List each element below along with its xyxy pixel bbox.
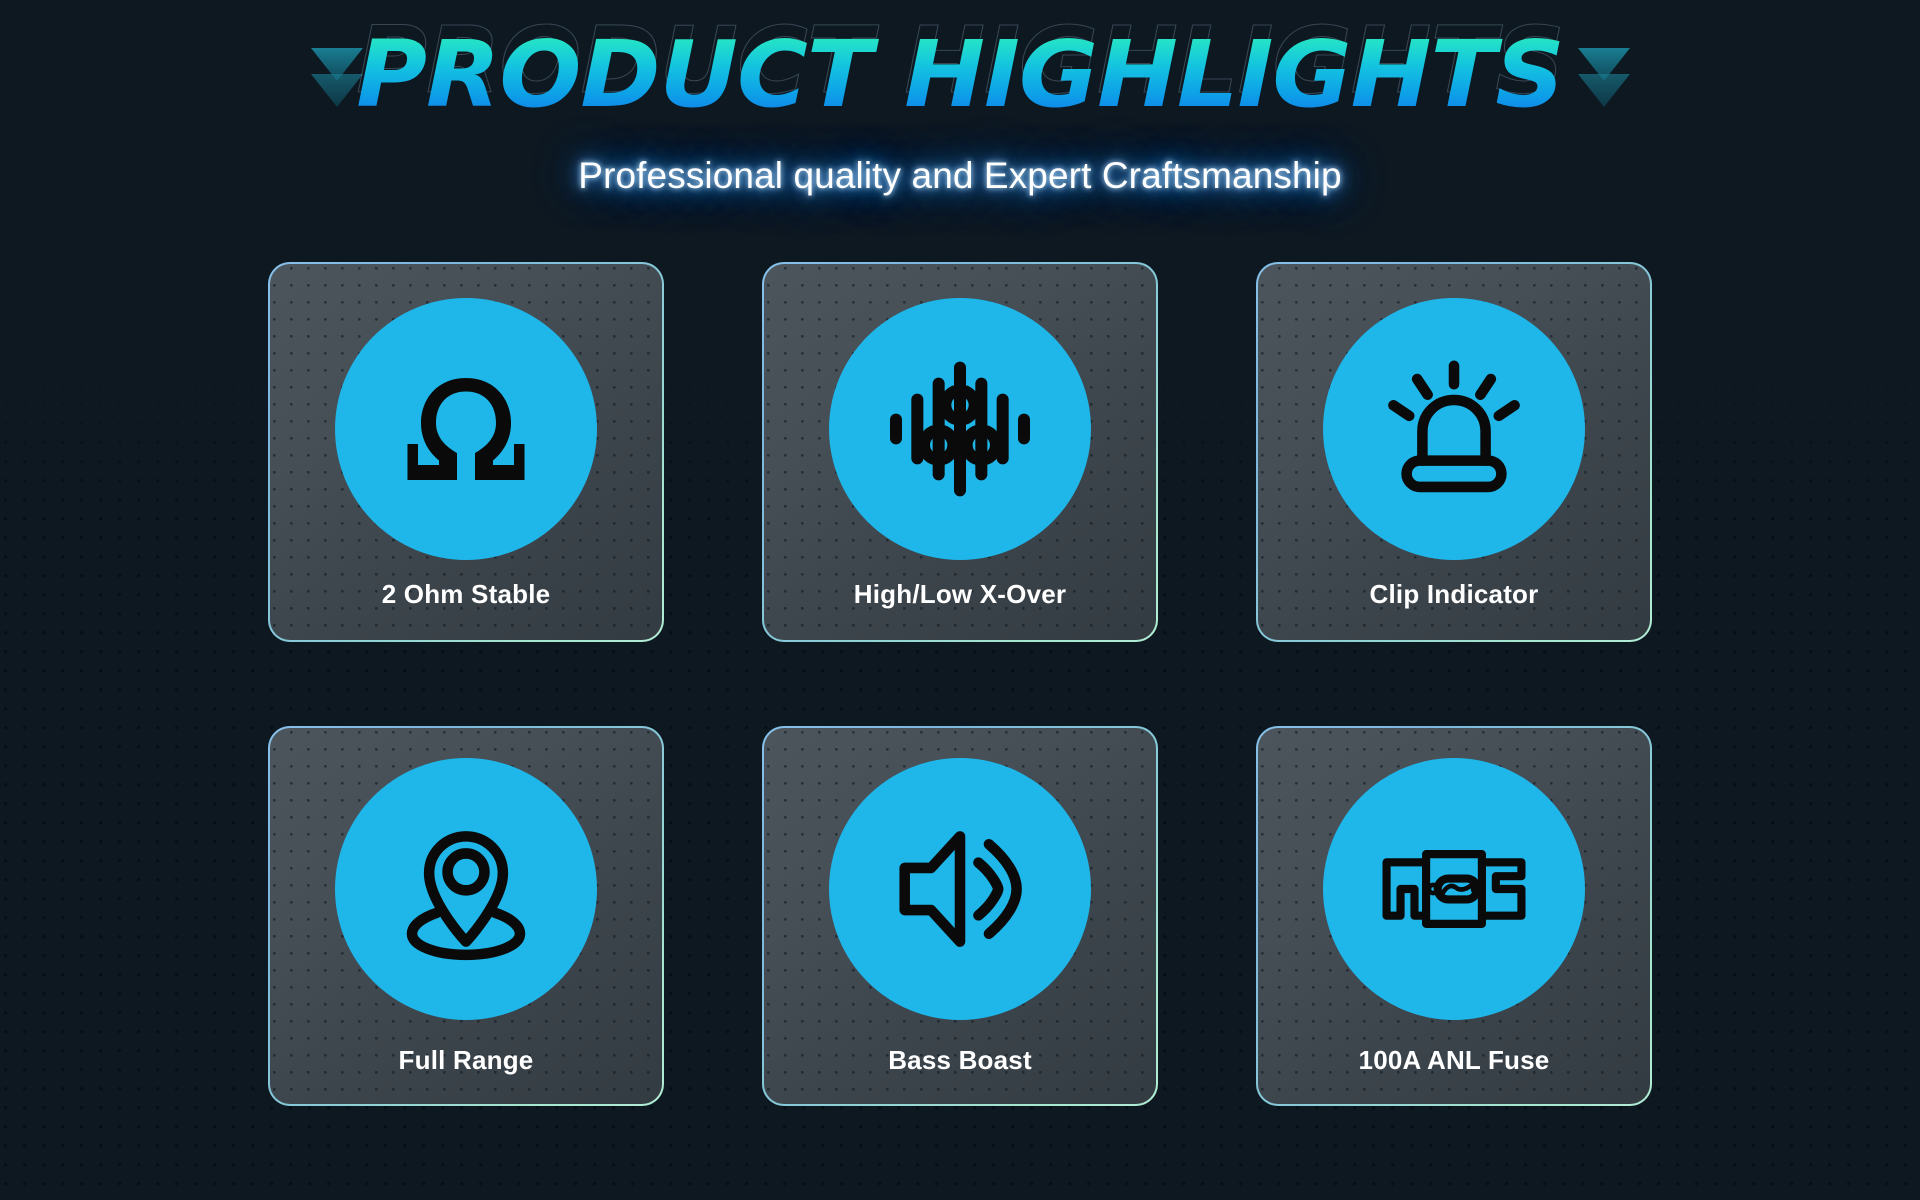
icon-badge <box>1323 298 1585 560</box>
feature-card-2-ohm-stable[interactable]: 2 Ohm Stable <box>268 262 664 642</box>
page-title-text: PRODUCT HIGHLIGHTS <box>0 20 1920 130</box>
card-label: 100A ANL Fuse <box>1359 1046 1550 1075</box>
icon-badge <box>829 298 1091 560</box>
icon-badge <box>1323 758 1585 1020</box>
card-surface: Clip Indicator <box>1258 264 1650 640</box>
banner-header: PRODUCT HIGHLIGHTS PRODUCT HIGHLIGHTS Pr… <box>0 0 1920 215</box>
product-highlights-banner: PRODUCT HIGHLIGHTS PRODUCT HIGHLIGHTS Pr… <box>0 0 1920 1200</box>
anl-fuse-icon <box>1361 796 1547 982</box>
card-label: High/Low X-Over <box>854 580 1066 609</box>
feature-card-bass-boast[interactable]: Bass Boast <box>762 726 1158 1106</box>
feature-card-high-low-x-over[interactable]: High/Low X-Over <box>762 262 1158 642</box>
card-surface: Bass Boast <box>764 728 1156 1104</box>
crossover-sliders-icon <box>880 349 1040 509</box>
page-subtitle: Professional quality and Expert Craftsma… <box>0 155 1920 197</box>
page-title: PRODUCT HIGHLIGHTS PRODUCT HIGHLIGHTS <box>0 20 1920 130</box>
card-label: Full Range <box>399 1046 534 1075</box>
feature-card-full-range[interactable]: Full Range <box>268 726 664 1106</box>
icon-badge <box>335 298 597 560</box>
card-surface: Full Range <box>270 728 662 1104</box>
card-surface: 2 Ohm Stable <box>270 264 662 640</box>
icon-badge <box>335 758 597 1020</box>
feature-card-100a-anl-fuse[interactable]: 100A ANL Fuse <box>1256 726 1652 1106</box>
card-surface: 100A ANL Fuse <box>1258 728 1650 1104</box>
card-label: Clip Indicator <box>1370 580 1539 609</box>
feature-card-clip-indicator[interactable]: Clip Indicator <box>1256 262 1652 642</box>
speaker-volume-icon <box>881 810 1039 968</box>
siren-beacon-icon <box>1375 350 1533 508</box>
card-label: 2 Ohm Stable <box>382 580 551 609</box>
card-label: Bass Boast <box>888 1046 1032 1075</box>
icon-badge <box>829 758 1091 1020</box>
ohm-icon <box>391 354 541 504</box>
location-pin-icon <box>387 810 545 968</box>
card-surface: High/Low X-Over <box>764 264 1156 640</box>
feature-card-grid: 2 Ohm Stable <box>268 262 1648 1106</box>
